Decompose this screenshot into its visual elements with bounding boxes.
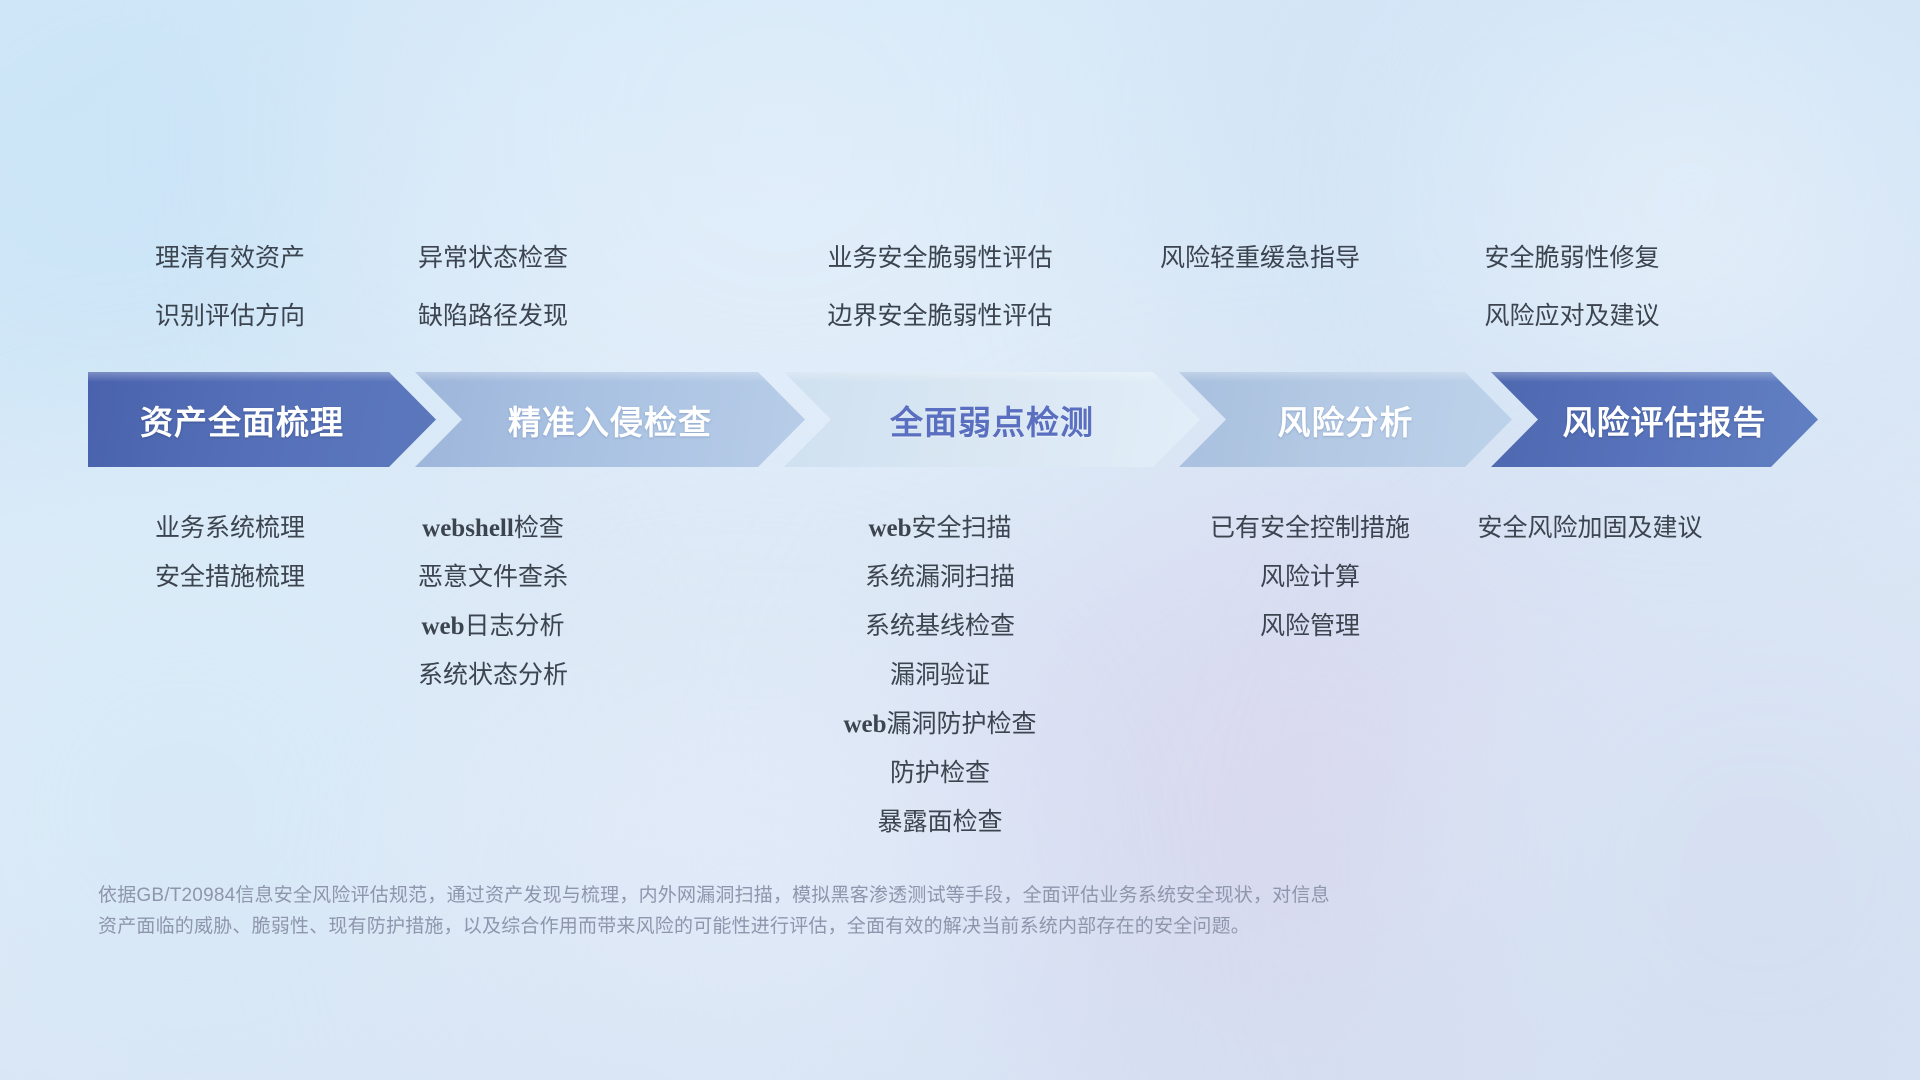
bottom-items-risk-report: 安全风险加固及建议 <box>1440 516 1740 541</box>
bottom-item-label: web漏洞防护检查 <box>810 712 1070 737</box>
bottom-item-label: webshell检查 <box>363 516 623 541</box>
bottom-item-suffix: 安全扫描 <box>912 514 1012 542</box>
bottom-item-label: 系统状态分析 <box>363 663 623 688</box>
bottom-item-label: 暴露面检查 <box>810 810 1070 835</box>
bottom-items-asset-inventory: 业务系统梳理 安全措施梳理 <box>100 516 360 590</box>
bottom-items-weakness-detection: web安全扫描 系统漏洞扫描 系统基线检查 漏洞验证 web漏洞防护检查 防护检… <box>810 516 1070 835</box>
bottom-item-label: 防护检查 <box>810 761 1070 786</box>
bottom-item-label: 系统漏洞扫描 <box>810 565 1070 590</box>
bottom-item-suffix: 漏洞防护检查 <box>887 710 1037 738</box>
bottom-item-label: 业务系统梳理 <box>100 516 360 541</box>
bottom-item-suffix: 日志分析 <box>465 612 565 640</box>
bottom-item-suffix: 检查 <box>514 514 564 542</box>
bottom-item-label: 安全风险加固及建议 <box>1440 516 1740 541</box>
bottom-item-label: 恶意文件查杀 <box>363 565 623 590</box>
bottom-item-label: web安全扫描 <box>810 516 1070 541</box>
bottom-items-intrusion-check: webshell检查 恶意文件查杀 web日志分析 系统状态分析 <box>363 516 623 688</box>
bottom-item-label: 风险管理 <box>1180 614 1440 639</box>
footer-line-2: 资产面临的威胁、脆弱性、现有防护措施，以及综合作用而带来风险的可能性进行评估，全… <box>98 911 1598 942</box>
bottom-item-label: web日志分析 <box>363 614 623 639</box>
bottom-item-label: 风险计算 <box>1180 565 1440 590</box>
bottom-items-risk-analysis: 已有安全控制措施 风险计算 风险管理 <box>1180 516 1440 639</box>
bottom-item-label: 漏洞验证 <box>810 663 1070 688</box>
bottom-item-label: 系统基线检查 <box>810 614 1070 639</box>
bottom-item-label: 已有安全控制措施 <box>1180 516 1440 541</box>
footer-line-1: 依据GB/T20984信息安全风险评估规范，通过资产发现与梳理，内外网漏洞扫描，… <box>98 880 1598 911</box>
footer-description: 依据GB/T20984信息安全风险评估规范，通过资产发现与梳理，内外网漏洞扫描，… <box>98 880 1598 942</box>
bottom-item-label: 安全措施梳理 <box>100 565 360 590</box>
